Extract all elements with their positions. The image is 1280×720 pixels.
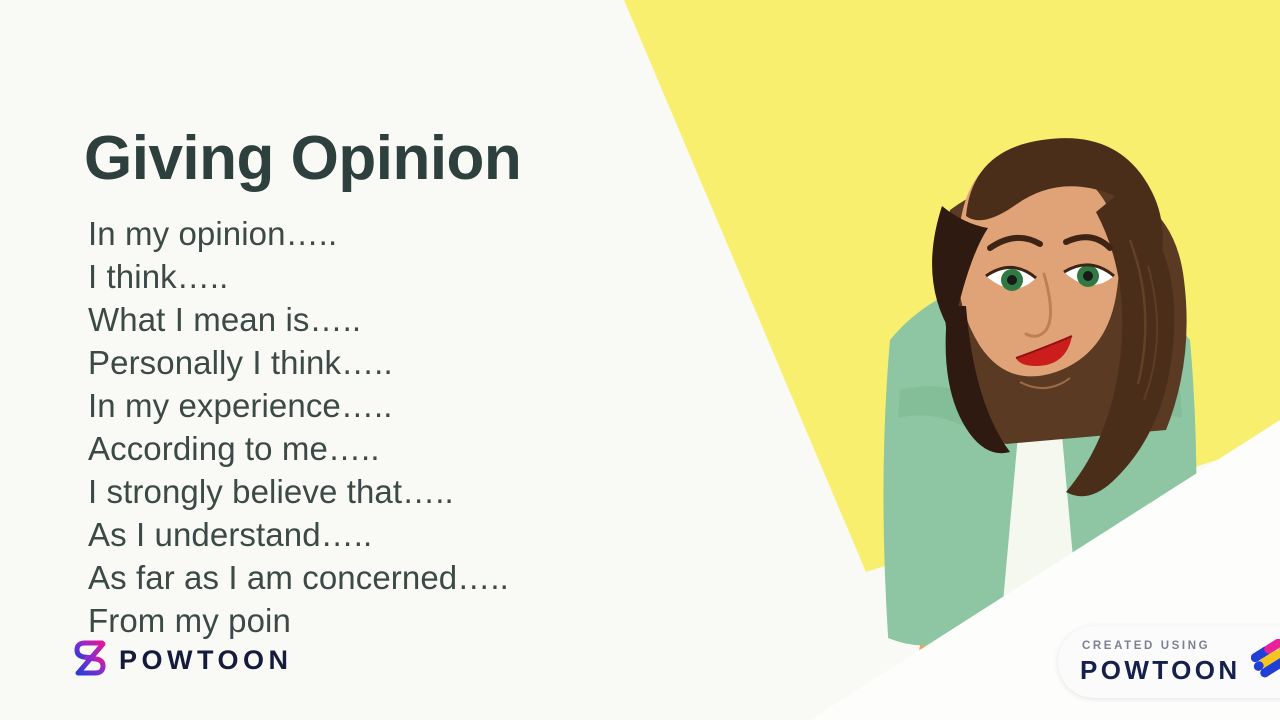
opinion-phrase-list: In my opinion….. I think….. What I mean … xyxy=(88,212,509,642)
created-using-badge[interactable]: CREATED USING POWTOON xyxy=(1058,626,1280,698)
powtoon-ribbon-icon xyxy=(72,639,108,682)
list-item: According to me….. xyxy=(88,427,509,470)
powtoon-brand-mark[interactable]: POWTOON xyxy=(72,639,293,682)
list-item: In my opinion….. xyxy=(88,212,509,255)
list-item: Personally I think….. xyxy=(88,341,509,384)
list-item: I strongly believe that….. xyxy=(88,470,509,513)
badge-text-group: CREATED USING POWTOON xyxy=(1080,641,1241,684)
slide-canvas: Giving Opinion In my opinion….. I think…… xyxy=(0,0,1280,720)
list-item: In my experience….. xyxy=(88,384,509,427)
content-column: Giving Opinion In my opinion….. I think…… xyxy=(0,0,624,720)
list-item: As I understand….. xyxy=(88,513,509,556)
badge-kicker: CREATED USING xyxy=(1082,641,1241,653)
list-item: I think….. xyxy=(88,255,509,298)
powtoon-arrow-icon xyxy=(1251,639,1280,686)
page-title: Giving Opinion xyxy=(84,126,521,191)
powtoon-wordmark: POWTOON xyxy=(119,647,293,674)
list-item: From my poin xyxy=(88,599,509,642)
list-item: As far as I am concerned….. xyxy=(88,556,509,599)
list-item: What I mean is….. xyxy=(88,298,509,341)
badge-wordmark: POWTOON xyxy=(1080,657,1241,683)
